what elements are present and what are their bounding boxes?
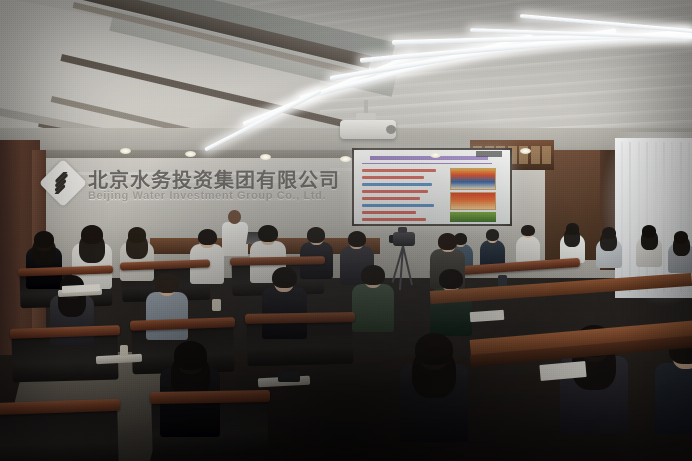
person-hair — [521, 225, 534, 236]
slide-header-badge — [476, 151, 502, 157]
slide-photo-1 — [450, 168, 496, 190]
seat-back-rail — [230, 256, 325, 266]
person-hair — [361, 265, 384, 285]
drink-cup — [120, 345, 128, 356]
slide-text-line — [362, 176, 424, 179]
cabinet-panel — [531, 146, 540, 164]
person-hair — [486, 229, 500, 241]
logo-wave-strokes — [52, 172, 74, 194]
person-hair-long — [79, 233, 105, 263]
slide-text-line — [362, 211, 416, 214]
person-hair — [439, 269, 462, 289]
cabinet-panel — [542, 146, 551, 164]
recessed-downlight — [120, 148, 131, 154]
person-hair — [348, 231, 366, 247]
slide-text-line — [362, 197, 420, 200]
slide-title-bar — [370, 156, 488, 160]
slide-text-line — [362, 169, 436, 172]
seat-back-rail — [245, 312, 355, 324]
seat-back — [0, 409, 119, 461]
person-torso — [516, 236, 540, 264]
recessed-downlight — [260, 154, 271, 160]
company-name-chinese: 北京水务投资集团有限公司 — [88, 164, 338, 193]
wall-sign: 北京水务投资集团有限公司 Beijing Water Investment Gr… — [46, 162, 336, 216]
audience-member — [516, 225, 540, 261]
person-hair — [258, 225, 278, 242]
company-name-english: Beijing Water Investment Group Co., Ltd. — [88, 190, 348, 202]
audience-member — [190, 229, 224, 281]
phone-on-desk — [278, 371, 300, 382]
audience-member — [668, 231, 692, 271]
slide-divider — [362, 163, 492, 164]
person-hair — [438, 233, 457, 250]
person-hair-long — [564, 228, 580, 247]
person-torso — [352, 284, 394, 332]
audience-member — [596, 227, 622, 265]
person-hair — [198, 229, 217, 245]
audience-member — [400, 333, 468, 435]
person-hair-long — [412, 347, 456, 398]
slide-photo-2 — [450, 192, 496, 210]
person-hair — [307, 227, 325, 243]
audience-member — [160, 341, 220, 431]
audience-member — [560, 223, 585, 260]
seat-back-rail — [150, 390, 270, 404]
person-hair-long — [600, 232, 617, 251]
slide-text-line — [362, 183, 432, 186]
notepad — [470, 310, 505, 322]
projector-lens — [386, 125, 396, 134]
conference-room-photo: 北京水务投资集团有限公司 Beijing Water Investment Gr… — [0, 0, 692, 461]
drink-cup — [212, 299, 221, 311]
recessed-downlight — [340, 156, 351, 162]
person-hair-long — [32, 238, 55, 265]
person-hair — [272, 267, 297, 288]
audience-member — [636, 225, 662, 265]
slide-text-line — [362, 190, 428, 193]
slide-text-line — [362, 204, 434, 207]
person-hair — [155, 273, 178, 293]
person-torso — [655, 363, 692, 434]
person-hair-long — [126, 234, 148, 259]
recessed-downlight — [520, 148, 531, 154]
recessed-downlight — [430, 152, 441, 158]
projection-screen — [354, 150, 510, 224]
person-hair-long — [673, 236, 690, 256]
audience-member — [480, 229, 505, 266]
person-hair-long — [641, 230, 658, 250]
audience-member — [262, 267, 307, 334]
person-torso — [146, 292, 188, 340]
audience-member — [352, 265, 394, 328]
recessed-downlight — [185, 151, 196, 157]
